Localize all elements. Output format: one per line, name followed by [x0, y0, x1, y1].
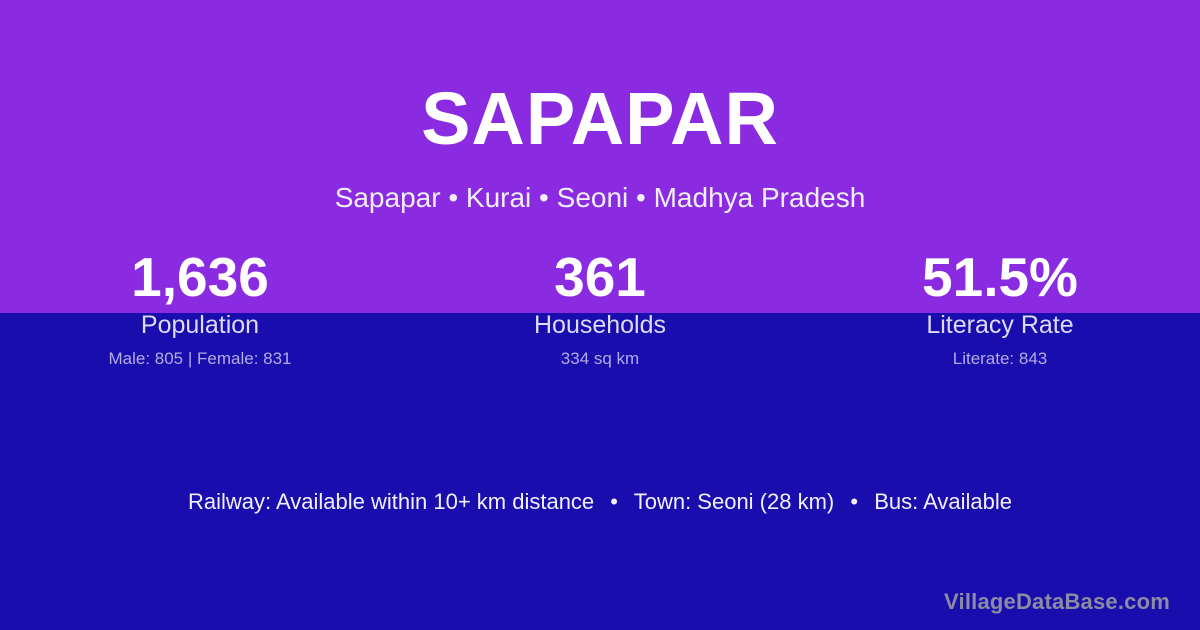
stat-literacy-rate: 51.5% Literacy Rate Literate: 843: [800, 246, 1200, 372]
village-info-card: SAPAPAR Sapapar • Kurai • Seoni • Madhya…: [0, 0, 1200, 630]
site-brand-watermark: VillageDataBase.com: [944, 588, 1170, 616]
stat-population: 1,636 Population Male: 805 | Female: 831: [0, 246, 400, 372]
amenity-separator-icon: •: [840, 487, 868, 517]
stat-value: 51.5%: [800, 246, 1200, 308]
stat-label: Literacy Rate: [800, 308, 1200, 342]
amenities-line: Railway: Available within 10+ km distanc…: [0, 487, 1200, 517]
amenity-railway: Railway: Available within 10+ km distanc…: [188, 489, 594, 514]
stat-sublabel: Male: 805 | Female: 831: [0, 342, 400, 372]
breadcrumb: Sapapar • Kurai • Seoni • Madhya Pradesh: [0, 181, 1200, 215]
card-content: SAPAPAR Sapapar • Kurai • Seoni • Madhya…: [0, 0, 1200, 630]
page-title: SAPAPAR: [0, 82, 1200, 156]
amenity-separator-icon: •: [600, 487, 628, 517]
stat-value: 1,636: [0, 246, 400, 308]
stat-sublabel: Literate: 843: [800, 342, 1200, 372]
stat-value: 361: [400, 246, 800, 308]
stat-households: 361 Households 334 sq km: [400, 246, 800, 372]
stat-sublabel: 334 sq km: [400, 342, 800, 372]
stat-label: Households: [400, 308, 800, 342]
stat-label: Population: [0, 308, 400, 342]
amenity-bus: Bus: Available: [874, 489, 1012, 514]
stats-row: 1,636 Population Male: 805 | Female: 831…: [0, 246, 1200, 372]
amenity-nearest-town: Town: Seoni (28 km): [634, 489, 835, 514]
